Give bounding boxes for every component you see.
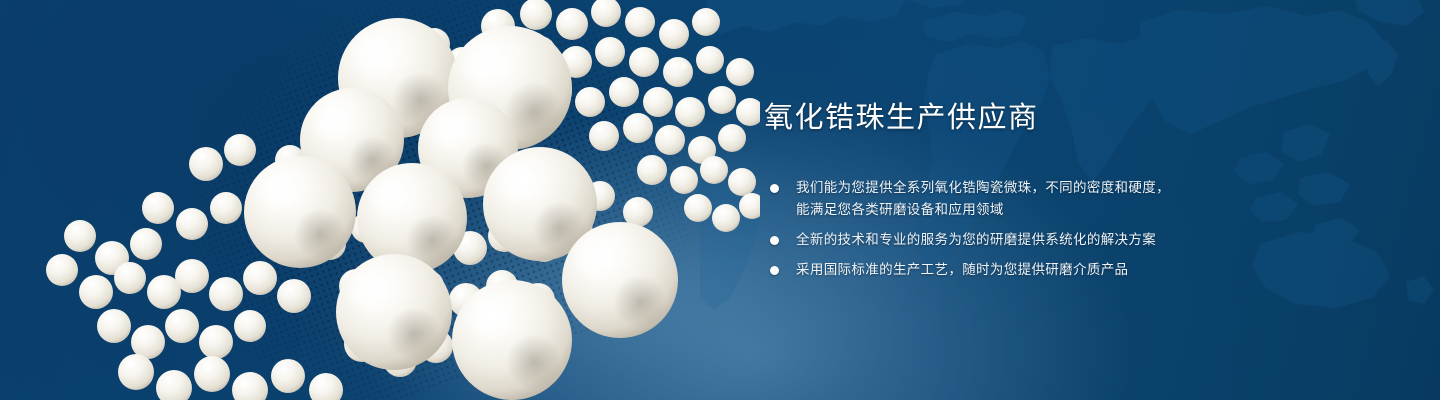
list-item-line: 采用国际标准的生产工艺，随时为您提供研磨介质产品 <box>796 259 1364 281</box>
bullet-dot-icon <box>770 184 779 193</box>
list-item: 我们能为您提供全系列氧化锆陶瓷微珠，不同的密度和硬度， 能满足您各类研磨设备和应… <box>764 177 1364 221</box>
list-item: 采用国际标准的生产工艺，随时为您提供研磨介质产品 <box>764 259 1364 281</box>
bullet-dot-icon <box>770 266 779 275</box>
list-item-line: 全新的技术和专业的服务为您的研磨提供系统化的解决方案 <box>796 229 1364 251</box>
list-item-line: 能满足您各类研磨设备和应用领域 <box>796 199 1364 221</box>
list-item-line: 我们能为您提供全系列氧化锆陶瓷微珠，不同的密度和硬度， <box>796 177 1364 199</box>
hero-banner: 氧化锆珠生产供应商 我们能为您提供全系列氧化锆陶瓷微珠，不同的密度和硬度， 能满… <box>0 0 1440 400</box>
list-item: 全新的技术和专业的服务为您的研磨提供系统化的解决方案 <box>764 229 1364 251</box>
bullet-dot-icon <box>770 236 779 245</box>
banner-copy: 氧化锆珠生产供应商 我们能为您提供全系列氧化锆陶瓷微珠，不同的密度和硬度， 能满… <box>764 104 1364 281</box>
feature-list: 我们能为您提供全系列氧化锆陶瓷微珠，不同的密度和硬度， 能满足您各类研磨设备和应… <box>764 177 1364 281</box>
page-title: 氧化锆珠生产供应商 <box>764 104 1364 133</box>
